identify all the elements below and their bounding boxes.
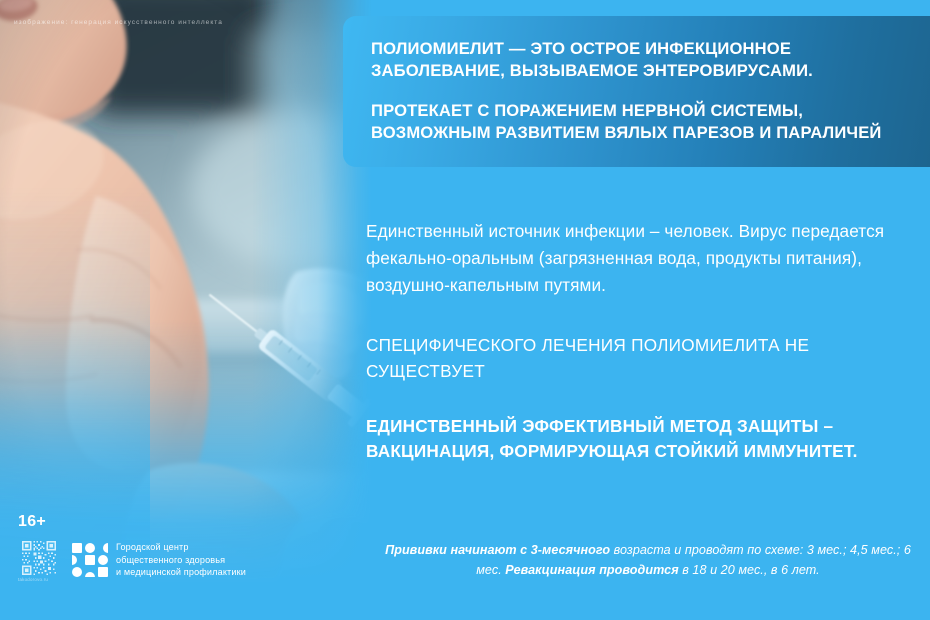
- ai-generated-watermark: изображение: генерация искусственного ин…: [14, 19, 223, 26]
- schedule-bold-1: Прививки начинают с 3-месячного: [385, 543, 610, 557]
- vaccination-paragraph: ЕДИНСТВЕННЫЙ ЭФФЕКТИВНЫЙ МЕТОД ЗАЩИТЫ – …: [366, 414, 926, 464]
- org-line-3: и медицинской профилактики: [116, 566, 246, 579]
- brand-block: takodorovo.ru: [18, 541, 246, 582]
- age-rating-badge: 16+: [18, 513, 46, 531]
- vaccination-schedule-note: Прививки начинают с 3-месячного возраста…: [372, 540, 924, 581]
- poster-root: изображение: генерация искусственного ин…: [0, 0, 930, 620]
- logo-unit: Городской центр общественного здоровья и…: [72, 541, 246, 579]
- transmission-paragraph: Единственный источник инфекции – человек…: [366, 218, 926, 300]
- headline-banner: ПОЛИОМИЕЛИТ — ЭТО ОСТРОЕ ИНФЕКЦИОННОЕ ЗА…: [343, 16, 930, 167]
- body-copy: Единственный источник инфекции – человек…: [366, 218, 926, 464]
- schedule-bold-2: Ревакцинация проводится: [505, 563, 678, 577]
- qr-caption: takodorovo.ru: [18, 577, 62, 582]
- headline-line-2: ПРОТЕКАЕТ С ПОРАЖЕНИЕМ НЕРВНОЙ СИСТЕМЫ, …: [371, 100, 904, 143]
- org-line-1: Городской центр: [116, 541, 246, 554]
- health-center-logo-icon: [72, 543, 108, 577]
- no-treatment-paragraph: СПЕЦИФИЧЕСКОГО ЛЕЧЕНИЯ ПОЛИОМИЕЛИТА НЕ С…: [366, 332, 926, 384]
- organization-name: Городской центр общественного здоровья и…: [116, 541, 246, 579]
- org-line-2: общественного здоровья: [116, 554, 246, 567]
- schedule-regular-2: в 18 и 20 мес., в 6 лет.: [679, 563, 820, 577]
- qr-code-icon[interactable]: [18, 541, 60, 575]
- qr-unit: takodorovo.ru: [18, 541, 62, 582]
- vaccination-photo: [0, 0, 372, 620]
- headline-line-1: ПОЛИОМИЕЛИТ — ЭТО ОСТРОЕ ИНФЕКЦИОННОЕ ЗА…: [371, 38, 904, 81]
